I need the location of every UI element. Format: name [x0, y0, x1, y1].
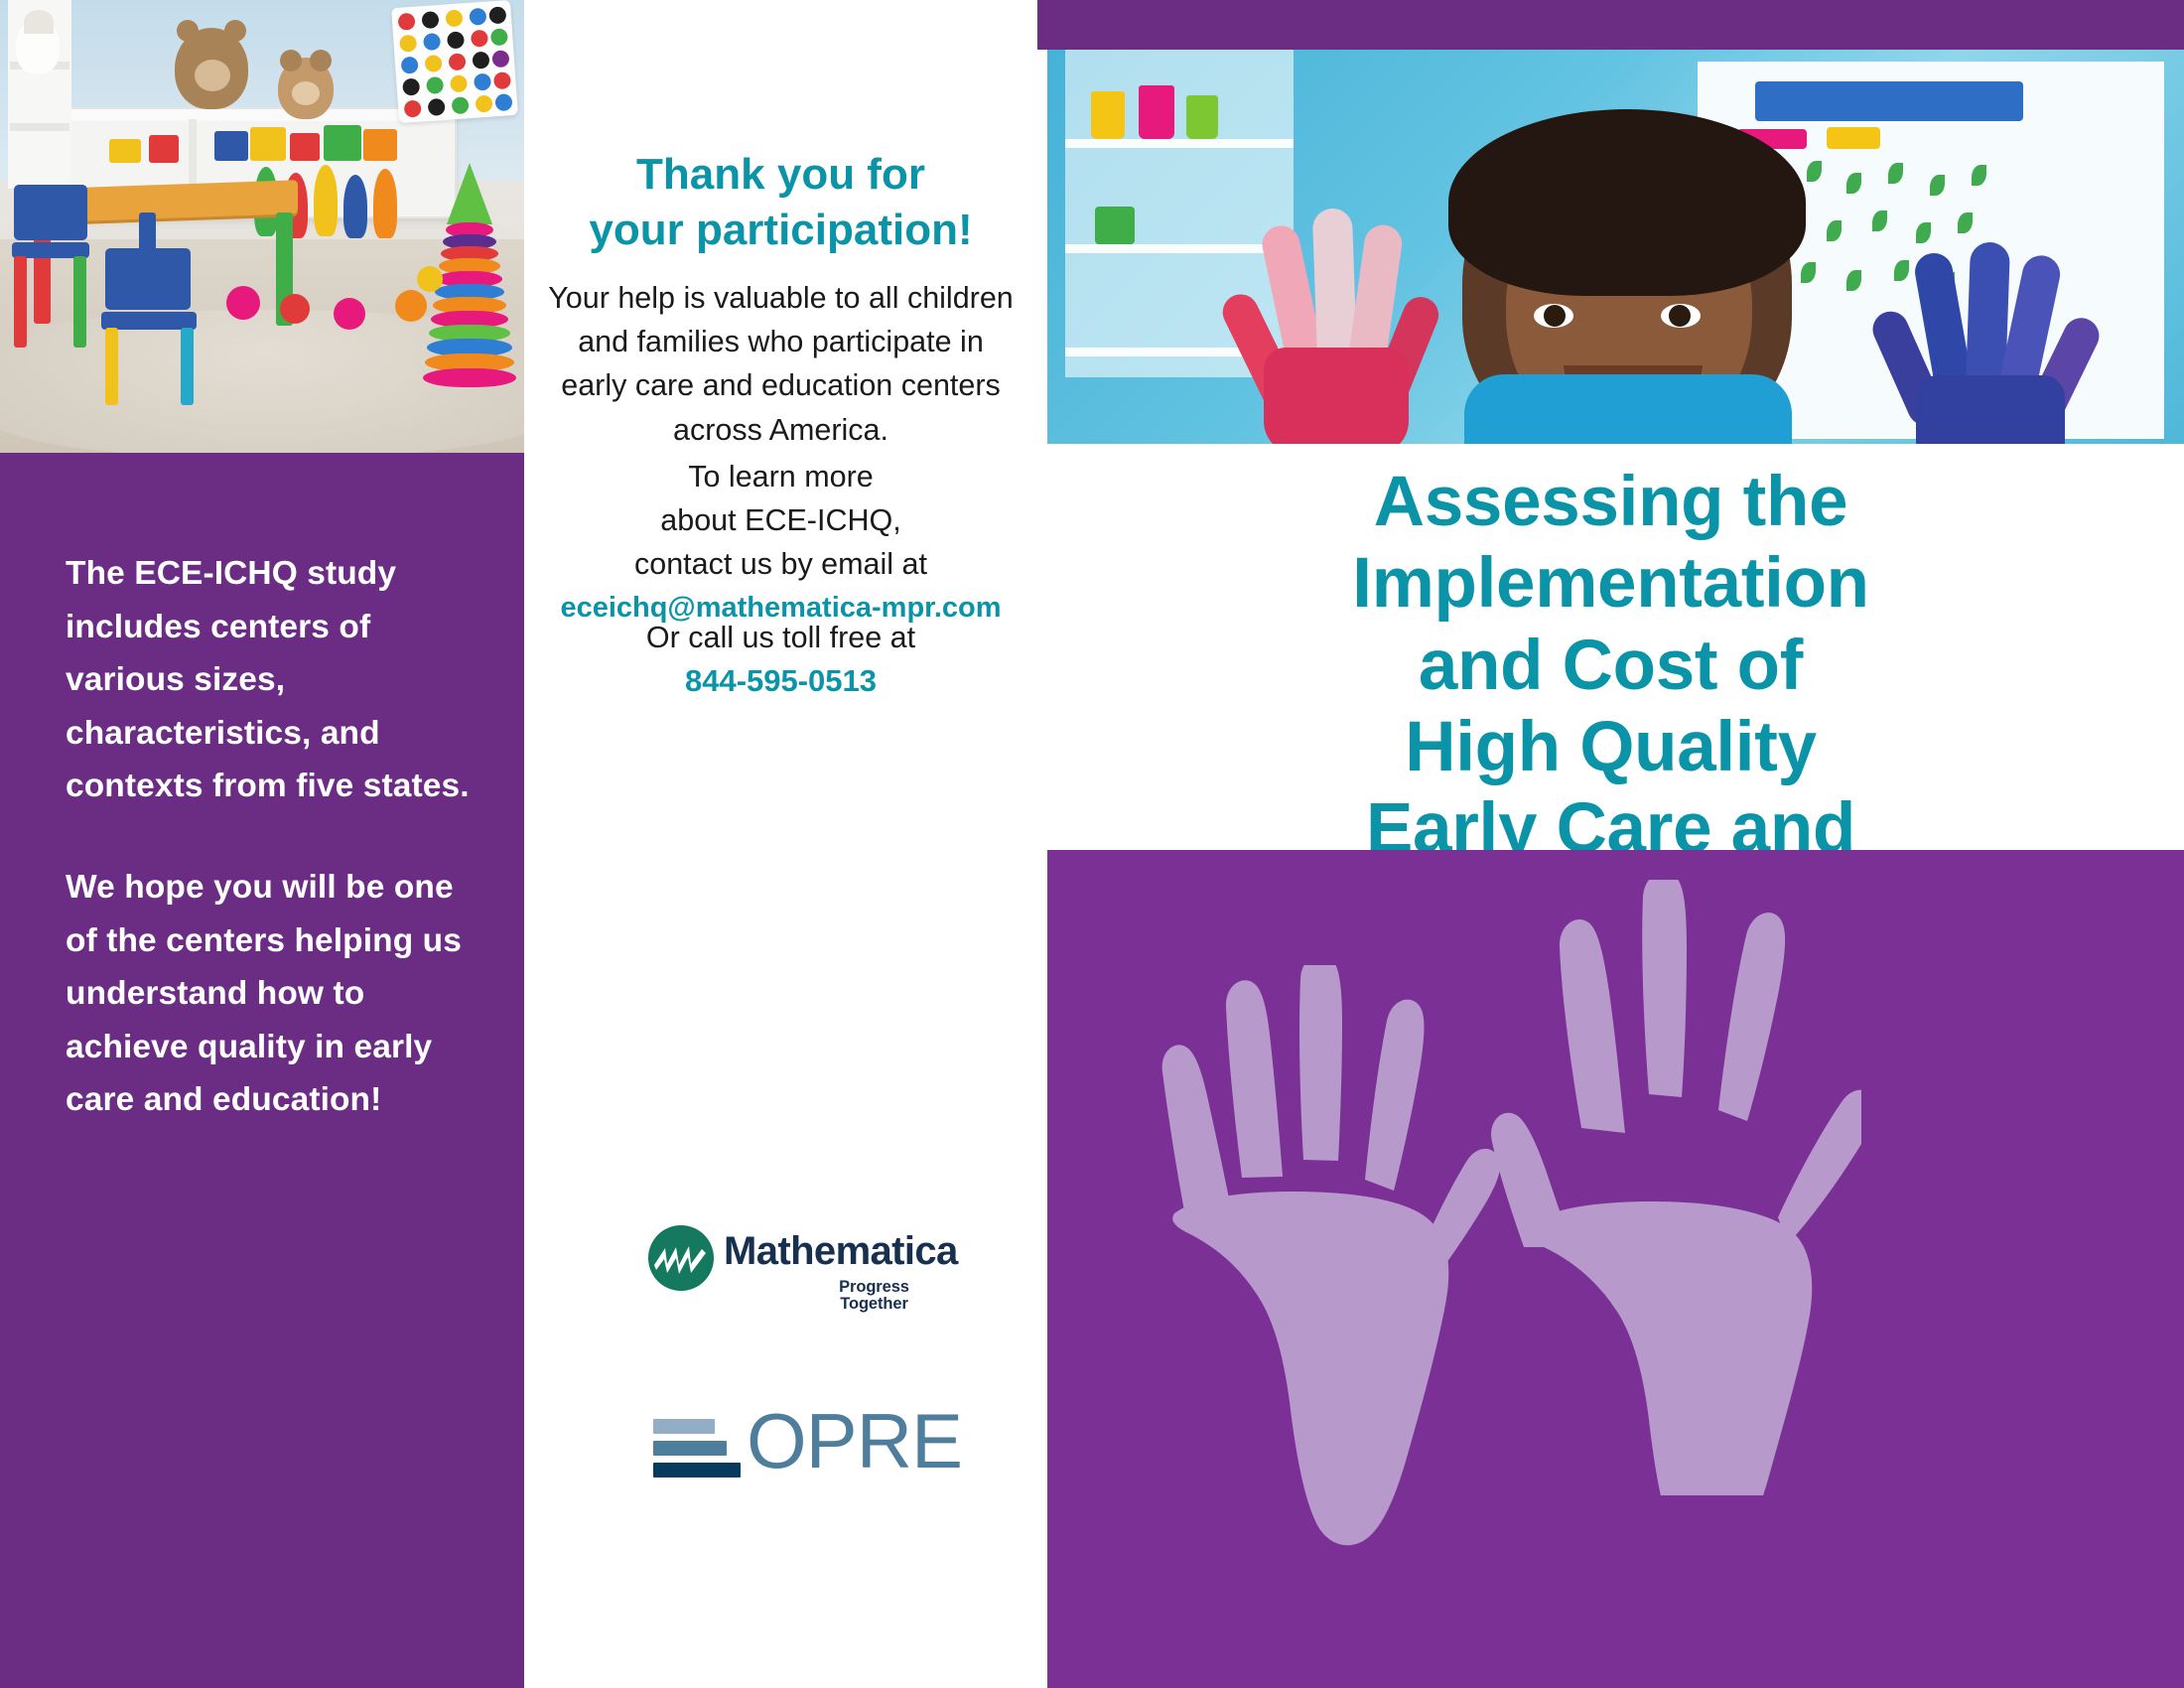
photo-painted-hand-blue	[1890, 238, 2089, 444]
title-line-1: Assessing the	[1082, 462, 2139, 543]
title-line-2: Implementation	[1082, 543, 2139, 625]
learn-more-line1: To learn more	[542, 455, 1020, 498]
photo-cup	[1186, 95, 1218, 139]
left-panel: The ECE-ICHQ study includes centers of v…	[0, 0, 524, 1688]
photo-block	[214, 131, 248, 161]
call-block: Or call us toll free at 844-595-0513	[542, 616, 1020, 704]
handprints-purple-block	[1047, 850, 2184, 1688]
handprint-right-icon	[1464, 880, 1861, 1495]
mathematica-tagline: Progress Together	[822, 1279, 926, 1312]
thank-you-heading: Thank you for your participation!	[534, 147, 1027, 259]
right-panel: Assessing the Implementation and Cost of…	[1037, 0, 2184, 1688]
photo-ball	[417, 266, 443, 292]
left-paragraph-1: The ECE-ICHQ study includes centers of v…	[66, 547, 492, 813]
left-panel-copy: The ECE-ICHQ study includes centers of v…	[66, 547, 492, 1127]
left-purple-block: The ECE-ICHQ study includes centers of v…	[0, 453, 524, 1688]
left-paragraph-2: We hope you will be one of the centers h…	[66, 861, 492, 1127]
photo-teddy-muzzle	[195, 60, 230, 91]
opre-bars-icon	[653, 1419, 741, 1480]
thank-you-heading-line1: Thank you for	[534, 147, 1027, 203]
center-panel: Thank you for your participation! Your h…	[524, 0, 1037, 1688]
learn-more-block: To learn more about ECE-ICHQ, contact us…	[542, 455, 1020, 629]
photo-ball	[334, 298, 365, 330]
mathematica-wordmark: Mathematica	[724, 1231, 958, 1271]
photo-block	[324, 125, 361, 161]
photo-child-hair	[1448, 109, 1806, 296]
learn-more-line3: contact us by email at	[542, 542, 1020, 586]
photo-pillow	[391, 0, 518, 123]
call-label: Or call us toll free at	[542, 616, 1020, 659]
learn-more-line2: about ECE-ICHQ,	[542, 498, 1020, 542]
playroom-photo	[0, 0, 524, 453]
opre-wordmark: OPRE	[747, 1403, 962, 1478]
right-top-purple-strip	[1037, 0, 2184, 50]
title-line-3: and Cost of	[1082, 626, 2139, 707]
brochure-page: The ECE-ICHQ study includes centers of v…	[0, 0, 2184, 1688]
photo-child-shirt	[1464, 374, 1792, 444]
photo-peg	[373, 169, 397, 238]
photo-block	[363, 129, 397, 161]
child-painted-hands-photo	[1047, 50, 2184, 444]
photo-ring-stacker	[421, 171, 518, 350]
photo-bin	[1095, 207, 1135, 244]
photo-block	[149, 135, 179, 163]
mathematica-mark-icon	[648, 1225, 714, 1291]
photo-block	[250, 127, 286, 161]
opre-logo: OPRE	[653, 1403, 921, 1498]
thank-you-body: Your help is valuable to all children an…	[542, 276, 1020, 452]
photo-peg	[314, 165, 338, 236]
thank-you-heading-line2: your participation!	[534, 203, 1027, 258]
photo-block	[109, 139, 141, 163]
title-line-4: High Quality	[1082, 707, 2139, 788]
photo-doll-hat	[24, 10, 54, 34]
photo-ball	[226, 286, 260, 320]
photo-teddy-muzzle	[292, 81, 320, 105]
photo-cup	[1139, 85, 1174, 139]
photo-peg	[343, 175, 367, 238]
contact-phone-link[interactable]: 844-595-0513	[542, 659, 1020, 704]
photo-ladder-rung	[10, 123, 69, 131]
photo-painted-hand-red	[1242, 199, 1426, 444]
photo-ball	[280, 294, 310, 324]
photo-ball	[395, 290, 427, 322]
mathematica-logo: Mathematica Progress Together	[648, 1219, 926, 1311]
handprint-left-icon	[1115, 965, 1502, 1561]
photo-block	[290, 133, 320, 161]
photo-cup	[1091, 91, 1125, 139]
